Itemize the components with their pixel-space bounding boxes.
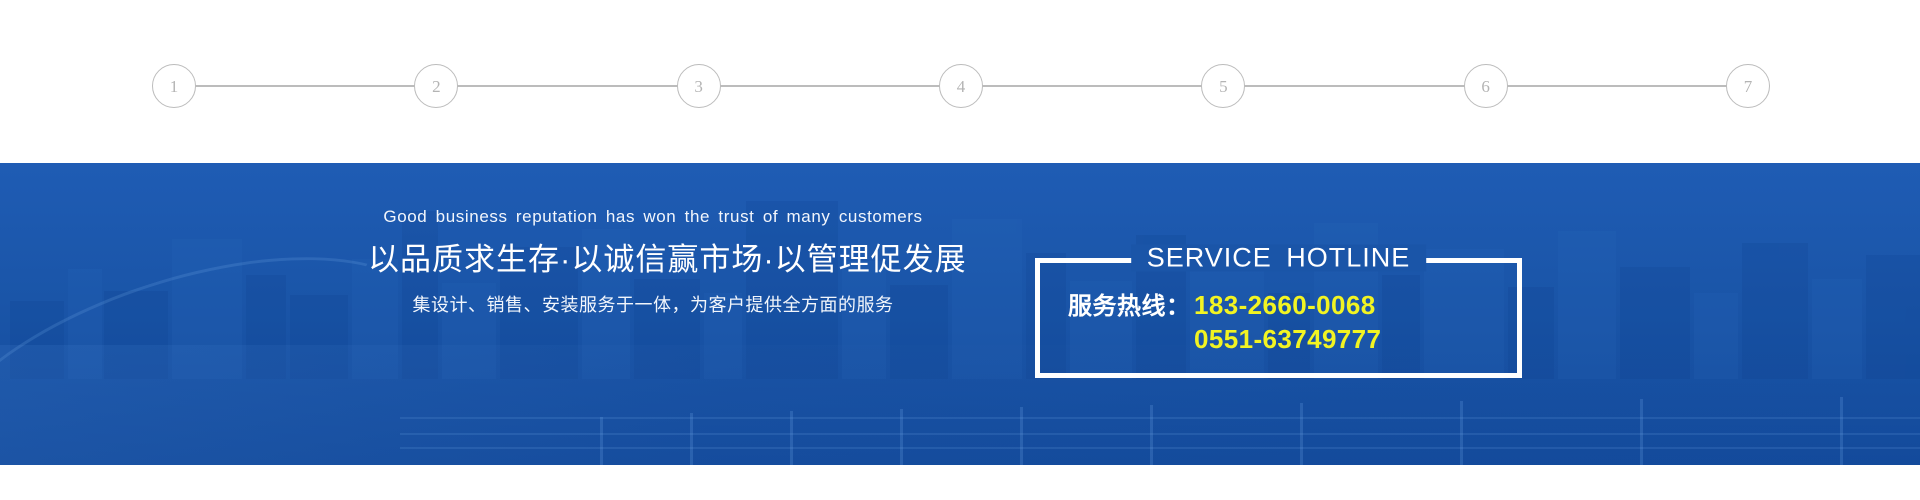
hotline-number-secondary[interactable]: 0551-63749777: [1194, 323, 1381, 356]
slogan-headline: 以品质求生存·以诚信赢市场·以管理促发展: [368, 241, 938, 280]
pagination-step-4[interactable]: 4: [939, 64, 983, 108]
slogan-english: Good business reputation has won the tru…: [368, 207, 938, 227]
footer-whitespace: [0, 465, 1920, 500]
pagination-step-2[interactable]: 2: [414, 64, 458, 108]
hotline-label: 服务热线：: [1068, 292, 1194, 323]
hotline-title: SERVICE HOTLINE: [1131, 245, 1427, 272]
hotline-row-secondary: 服务热线： 0551-63749777: [1068, 323, 1499, 357]
hotline-rows: 服务热线： 183-2660-0068 服务热线： 0551-63749777: [1040, 289, 1517, 356]
hotline-number-primary[interactable]: 183-2660-0068: [1194, 289, 1376, 322]
slogan-block: Good business reputation has won the tru…: [368, 207, 938, 318]
pagination-step-6[interactable]: 6: [1464, 64, 1508, 108]
pagination-step-3[interactable]: 3: [677, 64, 721, 108]
pagination-strip: 1 2 3 4 5 6 7: [0, 0, 1920, 163]
hotline-box: SERVICE HOTLINE 服务热线： 183-2660-0068 服务热线…: [1035, 258, 1522, 378]
blue-banner: Good business reputation has won the tru…: [0, 163, 1920, 465]
roadway-graphic: [0, 345, 1920, 465]
pagination-step-5[interactable]: 5: [1201, 64, 1245, 108]
pagination-step-1[interactable]: 1: [152, 64, 196, 108]
pagination-step-7[interactable]: 7: [1726, 64, 1770, 108]
promo-banner-page: 1 2 3 4 5 6 7: [0, 0, 1920, 500]
hotline-row-primary: 服务热线： 183-2660-0068: [1068, 289, 1499, 323]
slogan-subtitle: 集设计、销售、安装服务于一体，为客户提供全方面的服务: [368, 294, 938, 317]
